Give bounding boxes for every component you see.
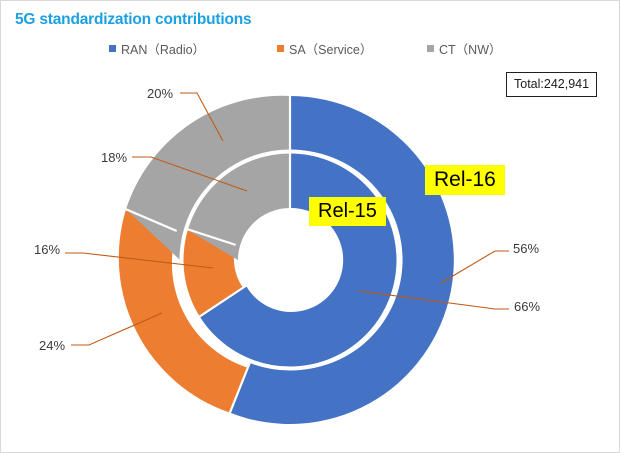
data-label-outer-sa: 24% [39,338,65,353]
annotation-rel-16: Rel-16 [425,165,505,195]
data-label-inner-sa: 16% [34,242,60,257]
chart-page: 5G standardization contributions RAN（Rad… [0,0,620,453]
data-label-inner-ran: 66% [514,299,540,314]
doughnut-svg [1,1,620,453]
data-label-outer-ct: 20% [147,86,173,101]
data-label-inner-ct: 18% [101,150,127,165]
nested-doughnut-chart [1,1,620,453]
data-label-outer-ran: 56% [513,241,539,256]
outer-ring-rel16 [119,96,454,424]
annotation-rel-15: Rel-15 [309,197,386,226]
